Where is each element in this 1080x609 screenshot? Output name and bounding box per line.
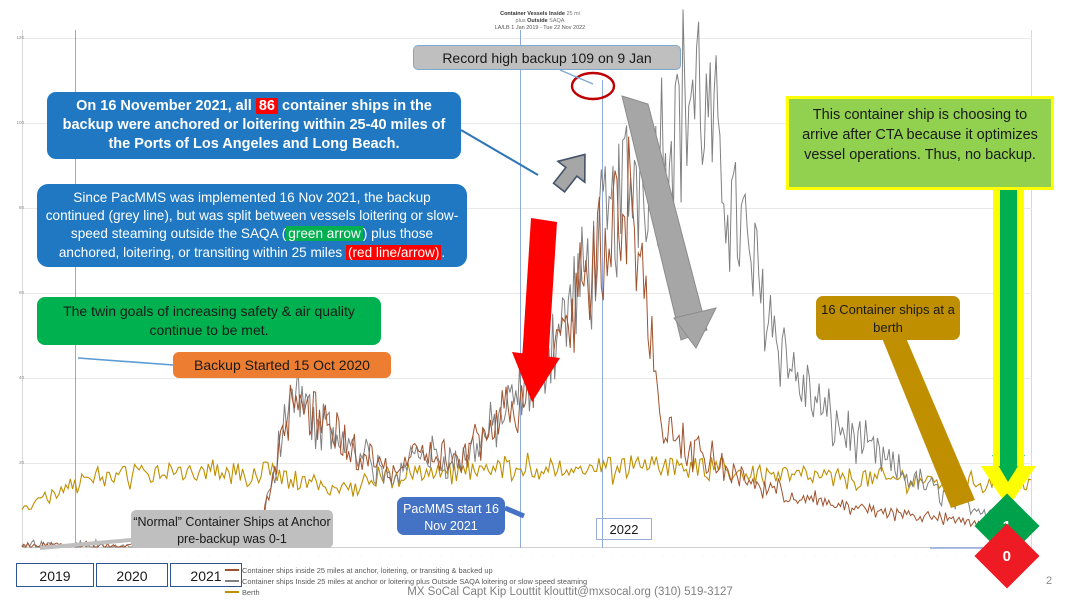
callout-pacmms-detail: Since PacMMS was implemented 16 Nov 2021…	[37, 184, 467, 267]
yellow-arrow-shaft	[1000, 190, 1017, 472]
legend-label: Container ships Inside 25 miles at ancho…	[242, 577, 587, 586]
y-tick-label: 80	[4, 205, 24, 210]
x-tick-label: ·	[732, 549, 737, 556]
x-tick-label: ·	[792, 549, 797, 556]
pacmms-start-connector	[505, 508, 524, 516]
x-tick-label: ·	[671, 549, 676, 556]
x-tick-label: ·	[752, 549, 757, 556]
chart-title-line2: plus Outside SAQA	[340, 18, 740, 25]
x-tick-label: ·	[843, 549, 848, 556]
x-tick-label: ·	[155, 549, 160, 556]
plot-left-border	[22, 30, 23, 548]
callout-nov16-highlight: 86	[256, 98, 278, 114]
year-label-2020: 2020	[96, 563, 168, 587]
x-tick-label: ·	[904, 549, 909, 556]
x-tick-label: ·	[509, 549, 514, 556]
x-tick-label: ·	[620, 549, 625, 556]
x-tick-label: ·	[711, 549, 716, 556]
page-number: 2	[1046, 575, 1052, 587]
x-tick-label: ·	[540, 549, 545, 556]
x-tick-label: ·	[378, 549, 383, 556]
yellow-shaft-right-edge	[1017, 190, 1024, 466]
x-tick-label: ·	[115, 549, 120, 556]
red-decline-arrow	[522, 218, 557, 364]
vline-record-high	[602, 80, 603, 548]
callout-pacmms-red-arrow: (red line/arrow)	[346, 245, 441, 260]
footer-contact: MX SoCal Capt Kip Louttit klouttit@mxsoc…	[360, 586, 780, 598]
x-tick-label: ·	[64, 549, 69, 556]
x-tick-label: ·	[570, 549, 575, 556]
callout-pacmms-p3: .	[441, 245, 445, 260]
x-tick-label: ·	[186, 549, 191, 556]
x-tick-label: ·	[428, 549, 433, 556]
vline-pacmms-start	[520, 30, 521, 548]
x-tick-label: ·	[631, 549, 636, 556]
x-tick-label: ·	[44, 549, 49, 556]
x-tick-label: ·	[519, 549, 524, 556]
y-tick-label: 100	[4, 120, 24, 125]
x-tick-label: ·	[236, 549, 241, 556]
x-tick-label: ·	[873, 549, 878, 556]
red-diamond-value: 0	[1003, 548, 1011, 565]
y-tick-label: 20	[4, 460, 24, 465]
grey-up-arrow	[546, 144, 599, 198]
callout-nov16-backup: On 16 November 2021, all 86 container sh…	[47, 92, 461, 159]
x-tick-label: ·	[206, 549, 211, 556]
record-high-circle	[572, 73, 614, 99]
x-tick-label: ·	[368, 549, 373, 556]
legend-label: Berth	[242, 588, 260, 597]
x-tick-label: ·	[277, 549, 282, 556]
x-tick-label: ·	[105, 549, 110, 556]
gridline	[22, 38, 1032, 39]
x-tick-label: ·	[651, 549, 656, 556]
x-tick-label: ·	[75, 549, 80, 556]
x-tick-label: ·	[408, 549, 413, 556]
x-tick-label: ·	[85, 549, 90, 556]
backup-started-connector	[78, 358, 173, 365]
series-line	[22, 453, 1031, 510]
x-tick-label: ·	[782, 549, 787, 556]
x-tick-label: ·	[893, 549, 898, 556]
callout-pacmms-start: PacMMS start 16 Nov 2021	[397, 497, 505, 535]
x-tick-label: ·	[216, 549, 221, 556]
green-arrow-head-inner	[992, 455, 1025, 482]
x-tick-label: ·	[600, 549, 605, 556]
chart-title-line1-main: Container Vessels Inside	[500, 11, 565, 17]
x-tick-label: ·	[257, 549, 262, 556]
x-tick-label: ·	[246, 549, 251, 556]
grey-decline-arrow	[622, 96, 707, 340]
chart-title-line1: Container Vessels Inside 25 mi	[340, 11, 740, 18]
x-tick-label: ·	[853, 549, 858, 556]
x-tick-label: ·	[964, 549, 969, 556]
callout-record-high: Record high backup 109 on 9 Jan	[413, 45, 681, 70]
x-tick-label: ·	[469, 549, 474, 556]
x-tick-label: ·	[135, 549, 140, 556]
x-tick-label: ·	[813, 549, 818, 556]
x-tick-label: ·	[823, 549, 828, 556]
x-tick-label: ·	[54, 549, 59, 556]
x-tick-label: ·	[529, 549, 534, 556]
x-tick-label: ·	[924, 549, 929, 556]
x-tick-label: ·	[479, 549, 484, 556]
x-tick-label: ·	[145, 549, 150, 556]
y-tick-label: 40	[4, 375, 24, 380]
callout-berth-note: 16 Container ships at a berth	[816, 296, 960, 340]
x-tick-label: ·	[833, 549, 838, 556]
x-tick-label: ·	[358, 549, 363, 556]
x-tick-label: ·	[297, 549, 302, 556]
x-tick-label: ·	[661, 549, 666, 556]
x-tick-label: ·	[610, 549, 615, 556]
x-tick-label: ·	[166, 549, 171, 556]
x-tick-label: ·	[641, 549, 646, 556]
grey-decline-arrow-head	[674, 308, 716, 348]
x-tick-label: ·	[196, 549, 201, 556]
nov16-connector	[461, 130, 538, 175]
chart-title-line3: LA/LB 1 Jan 2019 - Tue 22 Nov 2022	[340, 25, 740, 32]
chart-title-line2-post: SAQA	[548, 18, 565, 24]
callout-backup-started: Backup Started 15 Oct 2020	[173, 352, 391, 378]
x-tick-label: ·	[307, 549, 312, 556]
y-tick-label: 0	[4, 543, 24, 548]
x-tick-label: ·	[24, 549, 29, 556]
x-tick-label: ·	[691, 549, 696, 556]
callout-pacmms-green-arrow: green arrow	[286, 226, 363, 241]
legend-item: Container ships inside 25 miles at ancho…	[225, 565, 845, 575]
x-tick-label: ·	[348, 549, 353, 556]
x-tick-label: ·	[317, 549, 322, 556]
x-tick-label: ·	[337, 549, 342, 556]
gridline	[22, 378, 1032, 379]
x-tick-label: ·	[550, 549, 555, 556]
slide-canvas: 120 100 80 60 40 20 0 ··················…	[0, 0, 1080, 609]
x-tick-label: ·	[388, 549, 393, 556]
callout-normal-anchor-note: “Normal” Container Ships at Anchor pre-b…	[131, 510, 333, 548]
y-tick-label: 120	[4, 35, 24, 40]
y-tick-label: 60	[4, 290, 24, 295]
chart-title-line2-bold: Outside	[527, 18, 547, 24]
x-tick-label: ·	[125, 549, 130, 556]
chart-title: Container Vessels Inside 25 mi plus Outs…	[340, 11, 740, 32]
gold-berth-pointer	[882, 338, 975, 508]
x-tick-label: ·	[489, 549, 494, 556]
x-tick-label: ·	[560, 549, 565, 556]
legend-label: Container ships inside 25 miles at ancho…	[242, 566, 493, 575]
legend-item: Container ships Inside 25 miles at ancho…	[225, 576, 845, 586]
x-tick-label: ·	[681, 549, 686, 556]
x-tick-label: ·	[934, 549, 939, 556]
x-tick-label: ·	[398, 549, 403, 556]
x-tick-label: ·	[802, 549, 807, 556]
callout-nov16-pre: On 16 November 2021, all	[76, 98, 256, 114]
x-tick-label: ·	[722, 549, 727, 556]
x-tick-label: ·	[176, 549, 181, 556]
x-axis-tick-labels: ········································…	[22, 549, 1032, 561]
legend-swatch	[225, 580, 239, 582]
x-tick-label: ·	[742, 549, 747, 556]
x-tick-label: ·	[944, 549, 949, 556]
record-high-connector	[560, 70, 593, 84]
x-tick-label: ·	[499, 549, 504, 556]
x-tick-label: ·	[95, 549, 100, 556]
x-tick-label: ·	[590, 549, 595, 556]
x-tick-label: ·	[762, 549, 767, 556]
x-tick-label: ·	[863, 549, 868, 556]
chart-title-line2-pre: plus	[516, 18, 528, 24]
x-tick-label: ·	[34, 549, 39, 556]
year-label-2022: 2022	[596, 518, 652, 540]
x-tick-label: ·	[418, 549, 423, 556]
gridline	[22, 293, 1032, 294]
x-tick-label: ·	[772, 549, 777, 556]
callout-cta-note: This container ship is choosing to arriv…	[786, 96, 1054, 190]
x-tick-label: ·	[327, 549, 332, 556]
x-tick-label: ·	[267, 549, 272, 556]
legend-swatch	[225, 591, 239, 593]
x-tick-label: ·	[459, 549, 464, 556]
x-tick-label: ·	[580, 549, 585, 556]
x-tick-label: ·	[449, 549, 454, 556]
x-tick-label: ·	[914, 549, 919, 556]
year-label-2019: 2019	[16, 563, 94, 587]
yellow-shaft-left-edge	[993, 190, 1000, 466]
x-tick-label: ·	[287, 549, 292, 556]
x-tick-label: ·	[701, 549, 706, 556]
chart-title-line1-thin: 25 mi	[566, 11, 579, 17]
legend-swatch	[225, 569, 239, 571]
x-tick-label: ·	[883, 549, 888, 556]
x-tick-label: ·	[438, 549, 443, 556]
gridline	[22, 463, 1032, 464]
x-tick-label: ·	[226, 549, 231, 556]
series-line	[22, 10, 1031, 548]
callout-twin-goals: The twin goals of increasing safety & ai…	[37, 297, 381, 345]
x-tick-label: ·	[954, 549, 959, 556]
